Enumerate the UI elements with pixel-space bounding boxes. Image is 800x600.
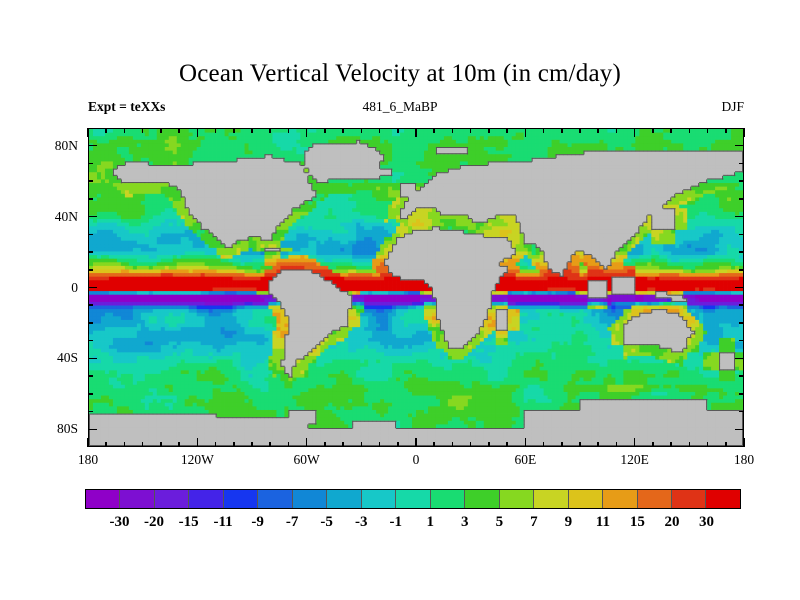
season-label: DJF [721,99,744,115]
colorbar-segment-14 [569,490,603,508]
colorbar-tick-1: -20 [144,514,164,531]
colorbar-segment-3 [189,490,223,508]
colorbar-tick-9: 1 [427,514,435,531]
xtick-label-0: 180 [78,452,98,468]
colorbar-tick-5: -7 [286,514,299,531]
ytick-label-4: 80S [32,421,78,437]
colorbar [85,489,741,509]
colorbar-segment-9 [396,490,430,508]
colorbar-tick-10: 3 [461,514,469,531]
colorbar-tick-15: 15 [630,514,645,531]
xtick-label-2: 60W [294,452,320,468]
colorbar-segment-4 [224,490,258,508]
colorbar-tick-0: -30 [110,514,130,531]
colorbar-segment-18 [706,490,739,508]
colorbar-tick-17: 30 [699,514,714,531]
colorbar-segment-16 [638,490,672,508]
colorbar-segment-11 [465,490,499,508]
colorbar-segment-1 [120,490,154,508]
page-title: Ocean Vertical Velocity at 10m (in cm/da… [0,60,800,88]
colorbar-tick-16: 20 [664,514,679,531]
xtick-label-6: 180 [734,452,754,468]
colorbar-tick-11: 5 [496,514,504,531]
colorbar-tick-6: -5 [320,514,333,531]
xtick-label-3: 0 [413,452,420,468]
ytick-label-2: 0 [32,280,78,296]
ytick-label-3: 40S [32,350,78,366]
colorbar-tick-3: -11 [214,514,233,531]
map-plot-area [88,128,744,447]
ytick-label-1: 40N [32,209,78,225]
xtick-label-4: 60E [514,452,536,468]
ocean-vertical-velocity-heatmap [89,129,743,446]
colorbar-segment-2 [155,490,189,508]
xtick-label-5: 120E [620,452,649,468]
colorbar-tick-12: 7 [530,514,538,531]
colorbar-segment-10 [431,490,465,508]
colorbar-tick-8: -1 [389,514,402,531]
colorbar-segment-7 [327,490,361,508]
ytick-label-0: 80N [32,138,78,154]
colorbar-segment-13 [534,490,568,508]
xtick-label-1: 120W [181,452,214,468]
colorbar-segment-6 [293,490,327,508]
colorbar-tick-4: -9 [251,514,264,531]
colorbar-tick-7: -3 [355,514,368,531]
colorbar-segment-8 [362,490,396,508]
colorbar-tick-2: -15 [179,514,199,531]
colorbar-tick-13: 9 [565,514,573,531]
colorbar-segment-12 [500,490,534,508]
run-id-label: 481_6_MaBP [0,99,800,115]
annotation-row: Expt = teXXs 481_6_MaBP DJF [0,99,800,115]
colorbar-segment-15 [603,490,637,508]
figure-canvas: Ocean Vertical Velocity at 10m (in cm/da… [0,0,800,600]
colorbar-segment-5 [258,490,292,508]
colorbar-tick-14: 11 [596,514,610,531]
colorbar-segment-17 [672,490,706,508]
colorbar-segment-0 [86,490,120,508]
